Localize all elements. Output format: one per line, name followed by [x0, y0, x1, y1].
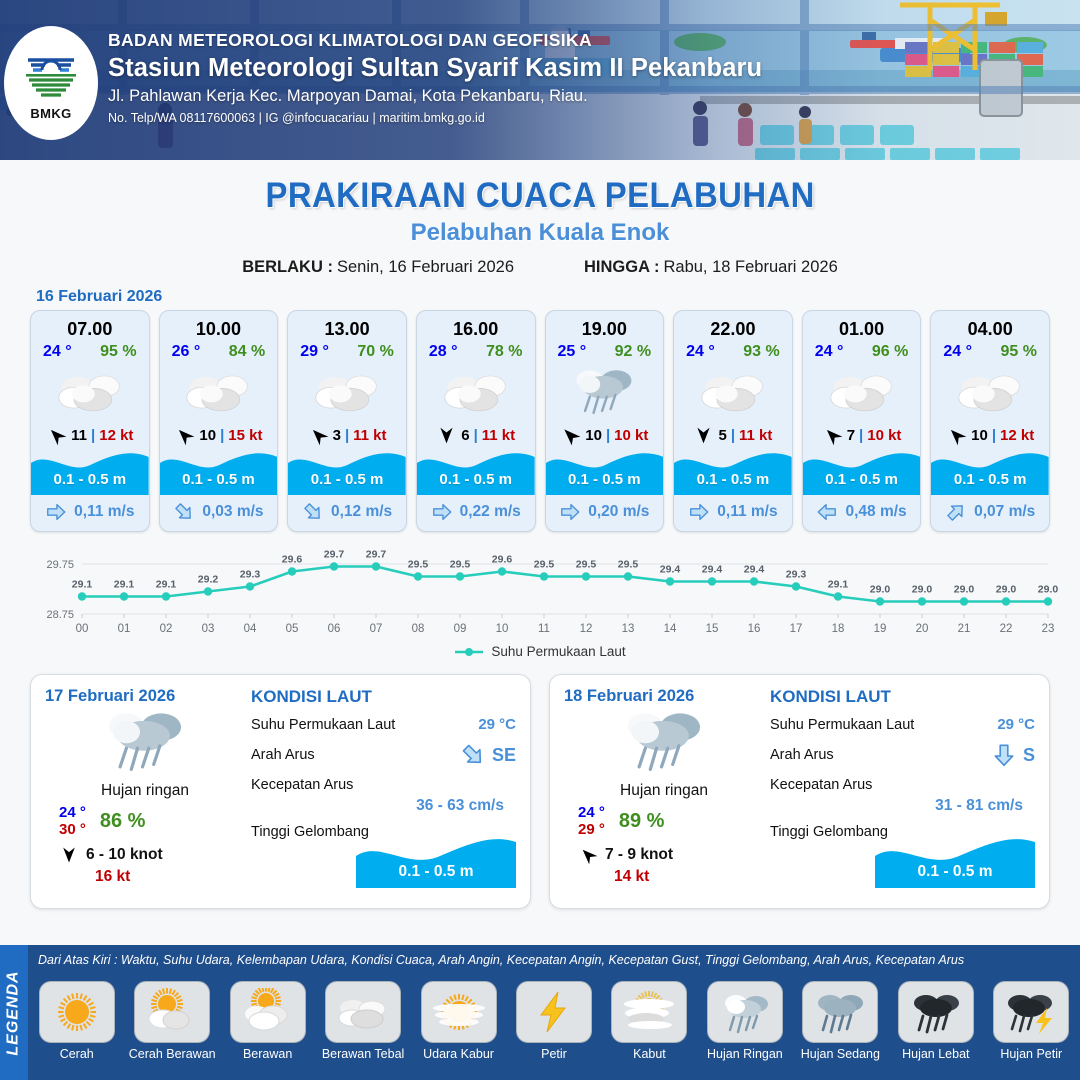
card-wind-speed: 7: [847, 427, 855, 444]
card-wind-separator: |: [91, 427, 95, 444]
hourly-card: 01.00 24 ° 96 % 7 | 10 kt 0.1 - 0.5 m 0: [802, 310, 922, 532]
hujan-ringan-icon: [99, 707, 191, 777]
current-direction-arrow-icon: [302, 501, 324, 523]
card-gust: 11 kt: [482, 427, 515, 444]
svg-text:12: 12: [580, 623, 593, 635]
header-text-block: BADAN METEOROLOGI KLIMATOLOGI DAN GEOFIS…: [108, 30, 762, 125]
svg-text:08: 08: [412, 623, 425, 635]
legend-item-label: Petir: [541, 1047, 567, 1061]
daily-condition: Hujan ringan: [564, 782, 764, 800]
legend-icon-box: [230, 981, 306, 1043]
sea-row-current-speed: Kecepatan Arus: [770, 777, 1035, 793]
sea-row-label: Kecepatan Arus: [770, 777, 872, 793]
card-weather-icon: [803, 364, 921, 420]
legend-icon-box: [707, 981, 783, 1043]
svg-text:11: 11: [538, 623, 550, 635]
card-humidity: 93 %: [743, 343, 779, 361]
card-wave: 0.1 - 0.5 m: [288, 449, 406, 495]
daily-forecast-card: 17 Februari 2026 Hujan ringan 24 ° 30 ° …: [30, 674, 531, 909]
svg-text:29.0: 29.0: [996, 584, 1017, 596]
card-weather-icon: [417, 364, 535, 420]
daily-wind-range: 6 - 10 knot: [86, 846, 163, 864]
hourly-date-label: 16 Februari 2026: [36, 288, 1080, 306]
card-humidity: 78 %: [486, 343, 522, 361]
sea-row-value: 29 °C: [997, 716, 1035, 733]
card-wave: 0.1 - 0.5 m: [803, 449, 921, 495]
sst-chart-svg: 29.7528.7529.10029.10129.10229.20329.304…: [22, 546, 1058, 646]
card-wave-height: 0.1 - 0.5 m: [31, 471, 149, 488]
svg-text:29.2: 29.2: [198, 574, 219, 586]
legend-item: Cerah: [32, 981, 121, 1061]
berlaku-value: Senin, 16 Februari 2026: [337, 258, 514, 276]
legend-icon-box: [993, 981, 1069, 1043]
sea-row-label: Tinggi Gelombang: [770, 824, 888, 840]
legend-item-label: Berawan Tebal: [322, 1047, 404, 1061]
legend-item-label: Hujan Lebat: [902, 1047, 969, 1061]
hourly-card: 10.00 26 ° 84 % 10 | 15 kt 0.1 - 0.5 m: [159, 310, 279, 532]
berawan-icon: [698, 370, 768, 414]
hingga-label: HINGGA :: [584, 258, 659, 276]
card-current: 0,11 m/s: [674, 495, 792, 531]
svg-text:09: 09: [454, 623, 467, 635]
card-wind-speed: 10: [199, 427, 216, 444]
port-name: Pelabuhan Kuala Enok: [0, 219, 1080, 247]
svg-text:05: 05: [286, 623, 299, 635]
daily-humidity: 89 %: [619, 810, 665, 833]
card-time: 04.00: [931, 311, 1049, 340]
card-wind-speed: 11: [71, 427, 87, 444]
daily-temps: 24 ° 30 ° 86 %: [45, 804, 245, 839]
daily-forecast-card: 18 Februari 2026 Hujan ringan 24 ° 29 ° …: [549, 674, 1050, 909]
daily-forecast-row: 17 Februari 2026 Hujan ringan 24 ° 30 ° …: [0, 664, 1080, 909]
sea-row-current-dir: Arah Arus SE: [251, 742, 516, 768]
svg-text:29.0: 29.0: [912, 584, 933, 596]
svg-text:06: 06: [328, 623, 341, 635]
haze-icon: [430, 988, 488, 1036]
legend-item: Hujan Ringan: [700, 981, 789, 1061]
legend-section: LEGENDA Dari Atas Kiri : Waktu, Suhu Uda…: [0, 945, 1080, 1080]
card-weather-icon: [546, 364, 664, 420]
card-wind: 6 | 11 kt: [417, 420, 535, 448]
berawan-icon: [955, 370, 1025, 414]
svg-text:29.3: 29.3: [240, 569, 261, 581]
card-temperature: 28 °: [429, 343, 458, 361]
svg-text:20: 20: [916, 623, 929, 635]
legend-icon-box: [39, 981, 115, 1043]
svg-text:29.1: 29.1: [114, 579, 135, 591]
legend-item-label: Cerah Berawan: [129, 1047, 216, 1061]
current-direction-arrow-icon: [173, 501, 195, 523]
hourly-card: 13.00 29 ° 70 % 3 | 11 kt 0.1 - 0.5 m 0: [287, 310, 407, 532]
svg-text:29.5: 29.5: [450, 559, 471, 571]
berawan-icon: [312, 370, 382, 414]
daily-wave-height: 0.1 - 0.5 m: [875, 863, 1035, 881]
card-wave: 0.1 - 0.5 m: [931, 449, 1049, 495]
svg-text:29.6: 29.6: [282, 554, 303, 566]
daily-wave-height: 0.1 - 0.5 m: [356, 863, 516, 881]
legend-marker-icon: [454, 646, 484, 658]
card-gust: 12 kt: [1000, 427, 1034, 444]
legend-icon-box: [802, 981, 878, 1043]
card-wave: 0.1 - 0.5 m: [160, 449, 278, 495]
current-speed-value: 31 - 81 cm/s: [770, 797, 1035, 815]
legend-item-label: Berawan: [243, 1047, 292, 1061]
wind-direction-arrow-icon: [578, 845, 598, 865]
sea-row-sst: Suhu Permukaan Laut 29 °C: [770, 716, 1035, 733]
card-wind: 10 | 12 kt: [931, 420, 1049, 448]
card-wind: 11 | 12 kt: [31, 420, 149, 448]
page-title: PRAKIRAAN CUACA PELABUHAN: [265, 176, 814, 216]
svg-text:19: 19: [874, 623, 887, 635]
card-wind-speed: 10: [585, 427, 602, 444]
svg-text:29.4: 29.4: [660, 564, 681, 576]
heavy-rain-icon: [907, 988, 965, 1036]
sea-row-label: Suhu Permukaan Laut: [770, 717, 914, 733]
svg-text:29.0: 29.0: [954, 584, 975, 596]
daily-gust: 16 kt: [45, 868, 245, 886]
card-gust: 10 kt: [867, 427, 901, 444]
card-temperature: 29 °: [300, 343, 329, 361]
bmkg-logo-mark: [20, 46, 82, 104]
card-time: 10.00: [160, 311, 278, 340]
current-direction-arrow-icon: [431, 501, 453, 523]
svg-text:15: 15: [706, 623, 719, 635]
card-humidity: 92 %: [615, 343, 651, 361]
card-gust: 12 kt: [99, 427, 133, 444]
moderate-rain-icon: [811, 988, 869, 1036]
berlaku-group: BERLAKU :Senin, 16 Februari 2026: [242, 258, 514, 277]
card-time: 07.00: [31, 311, 149, 340]
svg-text:29.4: 29.4: [744, 564, 765, 576]
daily-gust: 14 kt: [564, 868, 764, 886]
svg-text:22: 22: [1000, 623, 1013, 635]
daily-wave-graphic: 0.1 - 0.5 m: [875, 836, 1035, 888]
sun-cloud-icon: [143, 988, 201, 1036]
card-humidity: 96 %: [872, 343, 908, 361]
page-header: BMKG BADAN METEOROLOGI KLIMATOLOGI DAN G…: [0, 0, 1080, 160]
hourly-card: 16.00 28 ° 78 % 6 | 11 kt 0.1 - 0.5 m 0: [416, 310, 536, 532]
card-wind-speed: 3: [333, 427, 341, 444]
card-gust: 10 kt: [614, 427, 648, 444]
card-weather-icon: [931, 364, 1049, 420]
card-temperature: 24 °: [43, 343, 72, 361]
svg-text:13: 13: [622, 623, 635, 635]
card-humidity: 95 %: [1001, 343, 1037, 361]
legend-item: Berawan: [223, 981, 312, 1061]
svg-text:14: 14: [664, 623, 677, 635]
svg-text:29.5: 29.5: [408, 559, 429, 571]
agency-name: BADAN METEOROLOGI KLIMATOLOGI DAN GEOFIS…: [108, 30, 762, 51]
card-wind-separator: |: [731, 427, 735, 444]
current-direction-arrow-icon: [45, 501, 67, 523]
legend-item: Hujan Petir: [987, 981, 1076, 1061]
card-temp-hum: 26 ° 84 %: [160, 340, 278, 361]
card-current: 0,12 m/s: [288, 495, 406, 531]
station-name: Stasiun Meteorologi Sultan Syarif Kasim …: [108, 54, 762, 83]
sst-chart: 29.7528.7529.10029.10129.10229.20329.304…: [0, 546, 1080, 664]
card-wind-separator: |: [474, 427, 478, 444]
card-wind: 5 | 11 kt: [674, 420, 792, 448]
fog-icon: [620, 988, 678, 1036]
svg-text:07: 07: [370, 623, 383, 635]
card-wind-separator: |: [345, 427, 349, 444]
card-wind-separator: |: [606, 427, 610, 444]
legend-icon-box: [898, 981, 974, 1043]
svg-text:29.7: 29.7: [366, 549, 387, 561]
card-temperature: 24 °: [943, 343, 972, 361]
daily-temp-range: 24 ° 30 °: [59, 804, 86, 839]
current-direction-arrow-icon: [559, 501, 581, 523]
card-temperature: 26 °: [172, 343, 201, 361]
card-wind-separator: |: [859, 427, 863, 444]
svg-text:28.75: 28.75: [46, 609, 74, 621]
sea-row-label: Kecepatan Arus: [251, 777, 353, 793]
legend-item: Petir: [509, 981, 598, 1061]
hourly-card: 04.00 24 ° 95 % 10 | 12 kt 0.1 - 0.5 m: [930, 310, 1050, 532]
legend-icon-box: [516, 981, 592, 1043]
daily-temp-min: 24 °: [578, 804, 605, 821]
card-wind: 7 | 10 kt: [803, 420, 921, 448]
card-wave-height: 0.1 - 0.5 m: [160, 471, 278, 488]
svg-text:16: 16: [748, 623, 761, 635]
daily-weather-icon: [45, 704, 245, 780]
legend-icon-box: [134, 981, 210, 1043]
card-time: 22.00: [674, 311, 792, 340]
sea-row-value: SE: [460, 742, 516, 768]
daily-temp-max: 29 °: [578, 821, 605, 838]
card-wind: 10 | 15 kt: [160, 420, 278, 448]
card-wind: 10 | 10 kt: [546, 420, 664, 448]
wind-direction-arrow-icon: [436, 425, 457, 446]
sea-row-sst: Suhu Permukaan Laut 29 °C: [251, 716, 516, 733]
card-gust: 11 kt: [353, 427, 386, 444]
card-current: 0,11 m/s: [31, 495, 149, 531]
card-temp-hum: 25 ° 92 %: [546, 340, 664, 361]
current-direction-arrow-icon: [816, 501, 838, 523]
wind-direction-arrow-icon: [946, 425, 967, 446]
svg-text:29.7: 29.7: [324, 549, 345, 561]
card-wave-height: 0.1 - 0.5 m: [288, 471, 406, 488]
current-direction-arrow-icon: [945, 501, 967, 523]
card-current-speed: 0,11 m/s: [74, 503, 134, 521]
daily-wind: 7 - 9 knot: [564, 845, 764, 865]
card-gust: 15 kt: [228, 427, 262, 444]
hourly-card: 19.00 25 ° 92 % 10 | 10 kt 0.1 - 0.5 m: [545, 310, 665, 532]
card-temp-hum: 24 ° 96 %: [803, 340, 921, 361]
thunderstorm-icon: [1002, 988, 1060, 1036]
card-temp-hum: 29 ° 70 %: [288, 340, 406, 361]
cloud-thick-icon: [334, 988, 392, 1036]
legend-item-label: Hujan Sedang: [801, 1047, 880, 1061]
card-wave-height: 0.1 - 0.5 m: [417, 471, 535, 488]
card-wind-separator: |: [992, 427, 996, 444]
card-wind-speed: 5: [718, 427, 726, 444]
daily-weather-icon: [564, 704, 764, 780]
daily-sea-conditions: KONDISI LAUT Suhu Permukaan Laut 29 °C A…: [764, 687, 1035, 898]
current-direction-label: S: [1023, 745, 1035, 766]
sea-row-current-dir: Arah Arus S: [770, 742, 1035, 768]
legend-item: Hujan Sedang: [796, 981, 885, 1061]
card-current: 0,20 m/s: [546, 495, 664, 531]
svg-text:29.75: 29.75: [46, 559, 74, 571]
svg-text:29.6: 29.6: [492, 554, 513, 566]
wind-direction-arrow-icon: [59, 845, 79, 865]
daily-temp-range: 24 ° 29 °: [578, 804, 605, 839]
card-time: 19.00: [546, 311, 664, 340]
card-wave-height: 0.1 - 0.5 m: [931, 471, 1049, 488]
legend-item-label: Cerah: [60, 1047, 94, 1061]
wind-direction-arrow-icon: [174, 425, 195, 446]
chart-legend: Suhu Permukaan Laut: [22, 644, 1058, 659]
svg-text:21: 21: [958, 623, 971, 635]
legend-tab: LEGENDA: [0, 945, 28, 1080]
wind-direction-arrow-icon: [693, 425, 714, 446]
station-address: Jl. Pahlawan Kerja Kec. Marpoyan Damai, …: [108, 87, 762, 106]
card-current-speed: 0,20 m/s: [588, 503, 649, 521]
daily-wind-range: 7 - 9 knot: [605, 846, 673, 864]
svg-text:29.5: 29.5: [618, 559, 639, 571]
legend-item-label: Udara Kabur: [423, 1047, 494, 1061]
svg-text:29.1: 29.1: [72, 579, 93, 591]
lightning-icon: [525, 988, 583, 1036]
svg-text:23: 23: [1042, 623, 1055, 635]
svg-text:29.0: 29.0: [870, 584, 891, 596]
card-wind-speed: 6: [461, 427, 469, 444]
card-temp-hum: 24 ° 93 %: [674, 340, 792, 361]
daily-wind: 6 - 10 knot: [45, 845, 245, 865]
card-weather-icon: [31, 364, 149, 420]
sea-row-current-speed: Kecepatan Arus: [251, 777, 516, 793]
svg-text:29.3: 29.3: [786, 569, 807, 581]
legend-item-label: Kabut: [633, 1047, 666, 1061]
svg-text:03: 03: [202, 623, 215, 635]
berawan-icon: [441, 370, 511, 414]
card-current-speed: 0,22 m/s: [460, 503, 521, 521]
card-temp-hum: 24 ° 95 %: [31, 340, 149, 361]
current-direction-arrow-icon: [688, 501, 710, 523]
card-temperature: 24 °: [686, 343, 715, 361]
sun-icon: [48, 988, 106, 1036]
sea-row-label: Arah Arus: [251, 747, 315, 763]
card-wind-separator: |: [220, 427, 224, 444]
sea-row-value: 29 °C: [478, 716, 516, 733]
hourly-card: 07.00 24 ° 95 % 11 | 12 kt 0.1 - 0.5 m: [30, 310, 150, 532]
cloud-sun-icon: [239, 988, 297, 1036]
hujan-ringan-icon: [618, 707, 710, 777]
svg-text:29.0: 29.0: [1038, 584, 1058, 596]
current-speed-value: 36 - 63 cm/s: [251, 797, 516, 815]
wind-direction-arrow-icon: [560, 425, 581, 446]
berawan-icon: [183, 370, 253, 414]
hingga-group: HINGGA :Rabu, 18 Februari 2026: [584, 258, 838, 277]
sea-row-label: Arah Arus: [770, 747, 834, 763]
svg-text:04: 04: [244, 623, 257, 635]
svg-text:00: 00: [76, 623, 89, 635]
svg-text:18: 18: [832, 623, 845, 635]
hujan-ringan-icon: [569, 365, 639, 419]
daily-temp-min: 24 °: [59, 804, 86, 821]
card-gust: 11 kt: [739, 427, 772, 444]
legend-note: Dari Atas Kiri : Waktu, Suhu Udara, Kele…: [38, 953, 1074, 967]
card-wave-height: 0.1 - 0.5 m: [803, 471, 921, 488]
berawan-icon: [55, 370, 125, 414]
card-weather-icon: [674, 364, 792, 420]
card-current-speed: 0,11 m/s: [717, 503, 777, 521]
daily-condition: Hujan ringan: [45, 782, 245, 800]
current-direction-label: SE: [492, 745, 516, 766]
sea-conditions-title: KONDISI LAUT: [251, 687, 516, 707]
sea-row-value: S: [991, 742, 1035, 768]
card-current: 0,22 m/s: [417, 495, 535, 531]
svg-text:01: 01: [118, 623, 131, 635]
card-humidity: 84 %: [229, 343, 265, 361]
wind-direction-arrow-icon: [822, 425, 843, 446]
card-wind: 3 | 11 kt: [288, 420, 406, 448]
card-wave-height: 0.1 - 0.5 m: [674, 471, 792, 488]
card-temperature: 25 °: [558, 343, 587, 361]
card-wave: 0.1 - 0.5 m: [674, 449, 792, 495]
legend-item: Hujan Lebat: [891, 981, 980, 1061]
card-time: 13.00: [288, 311, 406, 340]
card-current: 0,03 m/s: [160, 495, 278, 531]
svg-text:10: 10: [496, 623, 509, 635]
card-wind-speed: 10: [971, 427, 988, 444]
daily-left: 18 Februari 2026 Hujan ringan 24 ° 29 ° …: [564, 687, 764, 898]
card-weather-icon: [160, 364, 278, 420]
sea-row-label: Tinggi Gelombang: [251, 824, 369, 840]
station-contact: No. Telp/WA 08117600063 | IG @infocuacar…: [108, 111, 762, 125]
legend-icon-box: [421, 981, 497, 1043]
current-direction-arrow-icon: [991, 742, 1017, 768]
sea-row-label: Suhu Permukaan Laut: [251, 717, 395, 733]
svg-text:29.4: 29.4: [702, 564, 723, 576]
legend-icon-box: [325, 981, 401, 1043]
berawan-icon: [827, 370, 897, 414]
legend-item-label: Hujan Petir: [1000, 1047, 1062, 1061]
validity-row: BERLAKU :Senin, 16 Februari 2026 HINGGA …: [0, 258, 1080, 277]
legend-item: Udara Kabur: [414, 981, 503, 1061]
svg-text:29.5: 29.5: [534, 559, 555, 571]
card-current-speed: 0,07 m/s: [974, 503, 1035, 521]
wind-direction-arrow-icon: [308, 425, 329, 446]
svg-text:29.1: 29.1: [156, 579, 177, 591]
legend-item: Kabut: [605, 981, 694, 1061]
card-current: 0,48 m/s: [803, 495, 921, 531]
legend-items: Cerah Cerah Berawan Berawan Berawan Teba…: [32, 981, 1076, 1061]
daily-temps: 24 ° 29 ° 89 %: [564, 804, 764, 839]
svg-text:02: 02: [160, 623, 173, 635]
daily-wave-graphic: 0.1 - 0.5 m: [356, 836, 516, 888]
card-temperature: 24 °: [815, 343, 844, 361]
card-time: 01.00: [803, 311, 921, 340]
svg-text:17: 17: [790, 623, 803, 635]
hourly-forecast-row: 07.00 24 ° 95 % 11 | 12 kt 0.1 - 0.5 m: [0, 310, 1080, 532]
card-current-speed: 0,03 m/s: [202, 503, 263, 521]
light-rain-icon: [716, 988, 774, 1036]
card-wave: 0.1 - 0.5 m: [31, 449, 149, 495]
card-temp-hum: 24 ° 95 %: [931, 340, 1049, 361]
card-weather-icon: [288, 364, 406, 420]
daily-humidity: 86 %: [100, 810, 146, 833]
legend-icon-box: [611, 981, 687, 1043]
wind-direction-arrow-icon: [46, 425, 67, 446]
card-current-speed: 0,12 m/s: [331, 503, 392, 521]
svg-text:29.5: 29.5: [576, 559, 597, 571]
legend-label: Suhu Permukaan Laut: [491, 644, 625, 659]
legend-item: Berawan Tebal: [318, 981, 407, 1061]
bmkg-logo-text: BMKG: [30, 106, 71, 121]
sea-conditions-title: KONDISI LAUT: [770, 687, 1035, 707]
